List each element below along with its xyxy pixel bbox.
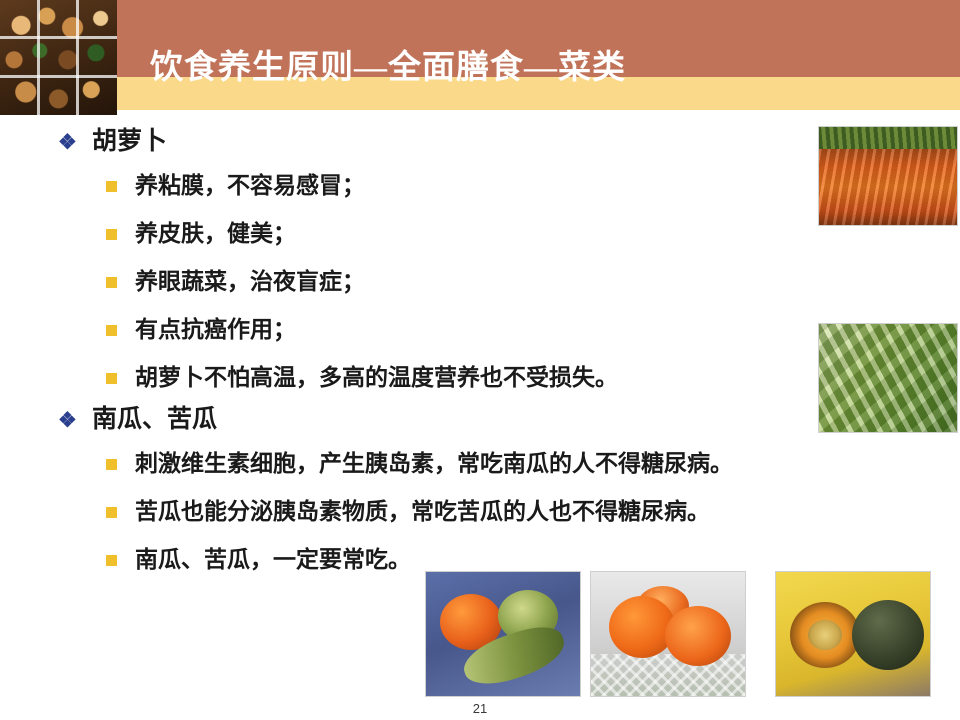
- section-heading-carrot: ❖ 胡萝卜: [0, 124, 960, 160]
- list-item: 胡萝卜不怕高温，多高的温度营养也不受损失。: [0, 354, 960, 402]
- square-bullet-icon: [106, 459, 117, 470]
- section-heading-pumpkin-label: 南瓜、苦瓜: [92, 406, 217, 433]
- list-item-label: 有点抗癌作用；: [135, 317, 296, 342]
- header-food-photo: [0, 0, 117, 115]
- list-item: 刺激维生素细胞，产生胰岛素，常吃南瓜的人不得糖尿病。: [0, 440, 960, 488]
- list-item: 养粘膜，不容易感冒；: [0, 162, 960, 210]
- list-item: 有点抗癌作用；: [0, 306, 960, 354]
- list-item-label: 养眼蔬菜，治夜盲症；: [135, 269, 365, 294]
- section-heading-carrot-label: 胡萝卜: [92, 128, 167, 155]
- list-item: 养眼蔬菜，治夜盲症；: [0, 258, 960, 306]
- square-bullet-icon: [106, 229, 117, 240]
- list-item: 南瓜、苦瓜，一定要常吃。: [0, 536, 960, 584]
- square-bullet-icon: [106, 325, 117, 336]
- list-item-label: 刺激维生素细胞，产生胰岛素，常吃南瓜的人不得糖尿病。: [135, 451, 733, 476]
- diamond-bullet-icon: ❖: [58, 404, 77, 436]
- header-divider: [0, 110, 960, 114]
- square-bullet-icon: [106, 555, 117, 566]
- list-item-label: 苦瓜也能分泌胰岛素物质，常吃苦瓜的人也不得糖尿病。: [135, 499, 710, 524]
- header-photo-grid-overlay: [0, 0, 117, 115]
- list-item-label: 胡萝卜不怕高温，多高的温度营养也不受损失。: [135, 365, 618, 390]
- diamond-bullet-icon: ❖: [58, 126, 77, 158]
- list-item-label: 养皮肤，健美；: [135, 221, 296, 246]
- square-bullet-icon: [106, 181, 117, 192]
- page-title: 饮食养生原则—全面膳食—菜类: [150, 40, 626, 88]
- list-item: 养皮肤，健美；: [0, 210, 960, 258]
- list-item-label: 养粘膜，不容易感冒；: [135, 173, 365, 198]
- square-bullet-icon: [106, 373, 117, 384]
- square-bullet-icon: [106, 277, 117, 288]
- square-bullet-icon: [106, 507, 117, 518]
- list-item: 苦瓜也能分泌胰岛素物质，常吃苦瓜的人也不得糖尿病。: [0, 488, 960, 536]
- list-item-label: 南瓜、苦瓜，一定要常吃。: [135, 547, 411, 572]
- section-heading-pumpkin: ❖ 南瓜、苦瓜: [0, 402, 960, 438]
- page-number: 21: [0, 701, 960, 716]
- slide-content: ❖ 胡萝卜 养粘膜，不容易感冒； 养皮肤，健美； 养眼蔬菜，治夜盲症； 有点抗癌…: [0, 118, 960, 718]
